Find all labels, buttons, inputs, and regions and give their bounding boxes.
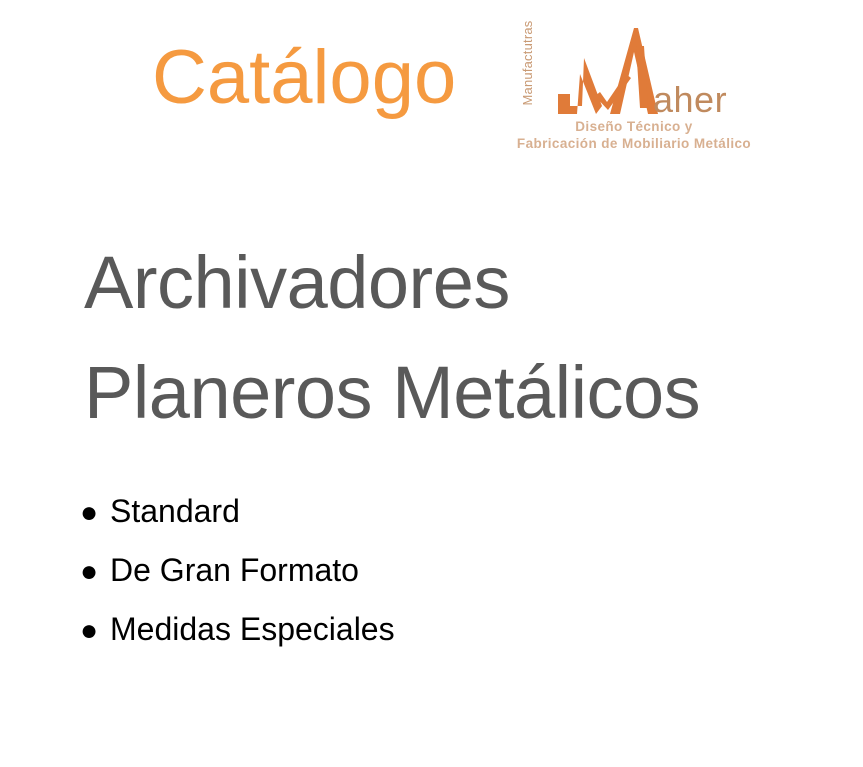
logo-tagline: Diseño Técnico y Fabricación de Mobiliar… xyxy=(498,118,770,152)
logo-mark-row: Manufactutras aher xyxy=(498,22,770,120)
list-item: ● Medidas Especiales xyxy=(80,600,780,659)
logo-tagline-line-2: Fabricación de Mobiliario Metálico xyxy=(498,135,770,152)
list-item-label: Standard xyxy=(110,482,240,541)
company-logo: Manufactutras aher Diseño Técnico y Fabr… xyxy=(498,22,770,152)
list-item: ● De Gran Formato xyxy=(80,541,780,600)
page-title: Catálogo xyxy=(152,34,456,122)
bullet-dot-icon: ● xyxy=(80,542,110,601)
product-type-list: ● Standard ● De Gran Formato ● Medidas E… xyxy=(80,482,780,659)
catalog-slide: Catálogo Manufactutras aher Diseñ xyxy=(0,0,863,767)
list-item-label: De Gran Formato xyxy=(110,541,359,600)
slide-header: Catálogo Manufactutras aher Diseñ xyxy=(0,0,863,175)
list-item: ● Standard xyxy=(80,482,780,541)
heading-line-2: Planeros Metálicos xyxy=(84,338,824,448)
bullet-dot-icon: ● xyxy=(80,483,110,542)
main-heading: Archivadores Planeros Metálicos xyxy=(84,228,824,448)
logo-vertical-word: Manufactutras xyxy=(519,13,537,113)
logo-tagline-line-1: Diseño Técnico y xyxy=(498,118,770,135)
heading-line-1: Archivadores xyxy=(84,228,824,338)
logo-brand-suffix: aher xyxy=(653,80,727,120)
bullet-dot-icon: ● xyxy=(80,601,110,660)
logo-m-icon xyxy=(550,22,665,120)
list-item-label: Medidas Especiales xyxy=(110,600,395,659)
